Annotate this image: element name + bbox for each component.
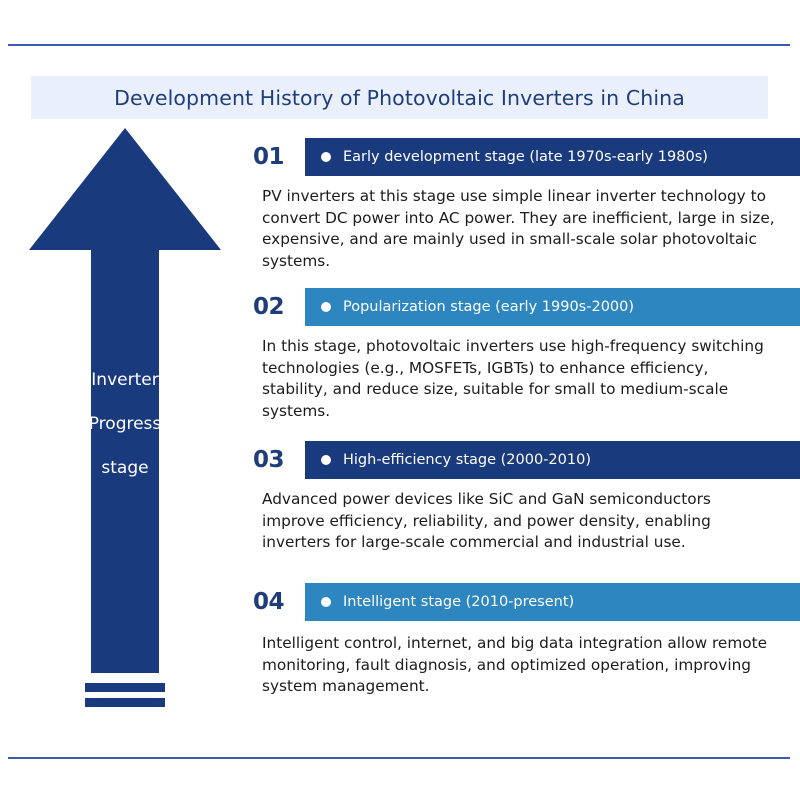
title-banner: Development History of Photovoltaic Inve… — [31, 76, 768, 119]
stage-number-02: 02 — [253, 294, 284, 320]
stage-number-01: 01 — [253, 144, 284, 170]
stage-title-bar-01[interactable]: Early development stage (late 1970s-earl… — [305, 138, 800, 176]
bullet-dot-icon — [321, 597, 331, 607]
stage-title-bar-02[interactable]: Popularization stage (early 1990s-2000) — [305, 288, 800, 326]
stage-description-01: PV inverters at this stage use simple li… — [262, 186, 778, 272]
stage-description-04: Intelligent control, internet, and big d… — [262, 633, 778, 698]
stage-description-03: Advanced power devices like SiC and GaN … — [262, 489, 778, 554]
bullet-dot-icon — [321, 152, 331, 162]
stage-label-04: Intelligent stage (2010-present) — [343, 594, 574, 610]
stage-title-bar-03[interactable]: High-efficiency stage (2000-2010) — [305, 441, 800, 479]
stage-label-03: High-efficiency stage (2000-2010) — [343, 452, 591, 468]
infographic-page: Development History of Photovoltaic Inve… — [0, 0, 800, 801]
bullet-dot-icon — [321, 455, 331, 465]
stage-description-02: In this stage, photovoltaic inverters us… — [262, 336, 778, 422]
stage-label-02: Popularization stage (early 1990s-2000) — [343, 299, 634, 315]
stage-title-bar-04[interactable]: Intelligent stage (2010-present) — [305, 583, 800, 621]
bottom-divider-rule — [8, 757, 790, 759]
stage-number-04: 04 — [253, 589, 284, 615]
up-arrow-icon — [27, 126, 223, 713]
stage-label-01: Early development stage (late 1970s-earl… — [343, 149, 708, 165]
stage-number-03: 03 — [253, 447, 284, 473]
bullet-dot-icon — [321, 302, 331, 312]
progress-arrow: Inverter Progress stage — [27, 126, 223, 713]
top-divider-rule — [8, 44, 790, 46]
page-title: Development History of Photovoltaic Inve… — [114, 86, 685, 110]
